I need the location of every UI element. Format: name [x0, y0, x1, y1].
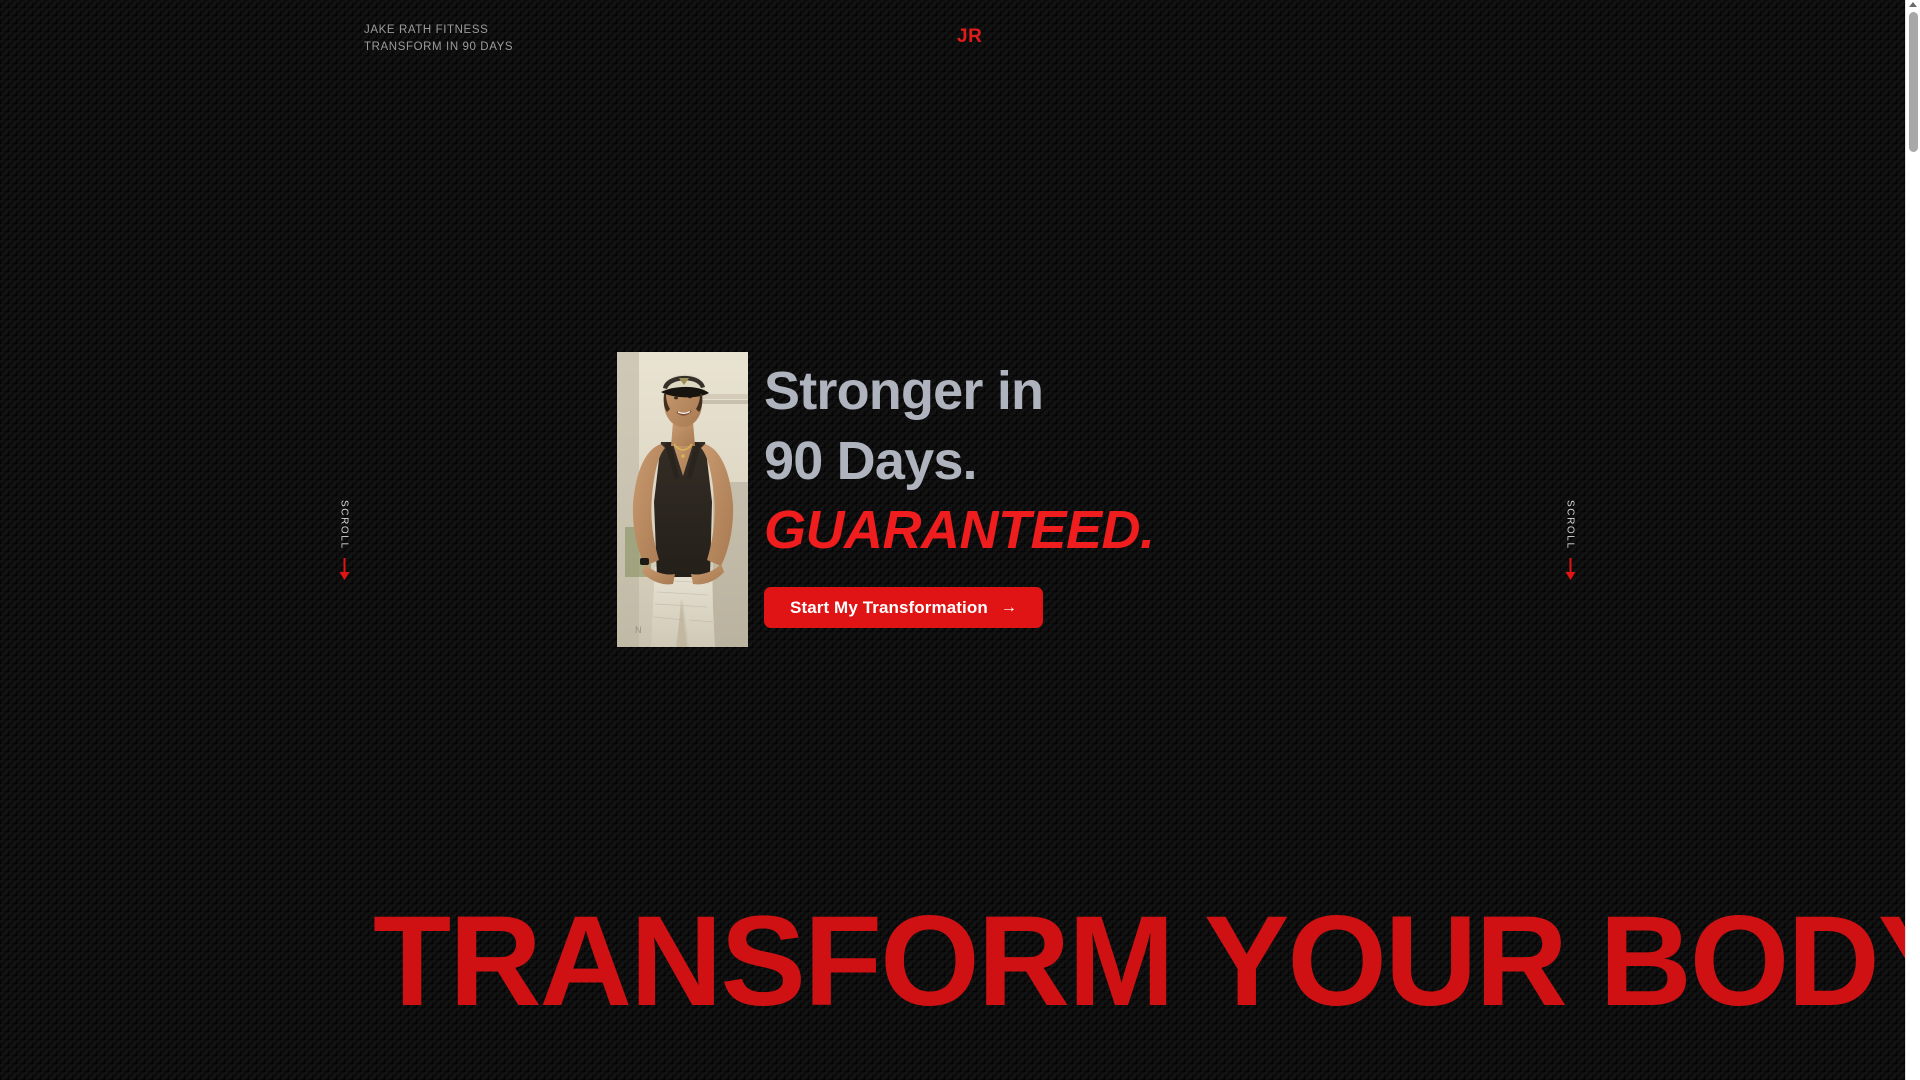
site-header: JAKE RATH FITNESS TRANSFORM IN 90 DAYS J…	[0, 0, 1905, 72]
hero-photo: N	[617, 352, 748, 647]
cta-label: Start My Transformation	[790, 598, 988, 618]
marquee-band: TRANSFORM YOUR BODY	[0, 900, 1905, 1040]
hero-headline-line-2: 90 Days.	[764, 426, 1155, 496]
arrow-right-icon: →	[1001, 599, 1017, 617]
hero-copy: Stronger in 90 Days. GUARANTEED. Start M…	[764, 352, 1155, 628]
page-root: JAKE RATH FITNESS TRANSFORM IN 90 DAYS J…	[0, 0, 1905, 1080]
hero-headline-line-1: Stronger in	[764, 356, 1155, 426]
scrollbar-thumb[interactable]	[1909, 12, 1918, 152]
scrollbar-up-arrow-icon[interactable]	[1909, 2, 1917, 7]
marquee-text: TRANSFORM YOUR BODY	[373, 900, 1905, 1032]
svg-text:N: N	[635, 625, 642, 635]
hero-section: N	[0, 352, 1905, 662]
page-scrollbar[interactable]	[1905, 0, 1920, 1080]
start-my-transformation-button[interactable]: Start My Transformation →	[764, 587, 1043, 628]
brand-wordmark: JAKE RATH FITNESS TRANSFORM IN 90 DAYS	[364, 22, 513, 55]
brand-line-primary: JAKE RATH FITNESS	[364, 22, 513, 39]
logo-mark[interactable]: JR	[957, 26, 982, 48]
hero-content: N	[617, 352, 1155, 647]
brand-line-secondary: TRANSFORM IN 90 DAYS	[364, 39, 513, 56]
hero-headline-emphasis: GUARANTEED.	[764, 498, 1155, 562]
